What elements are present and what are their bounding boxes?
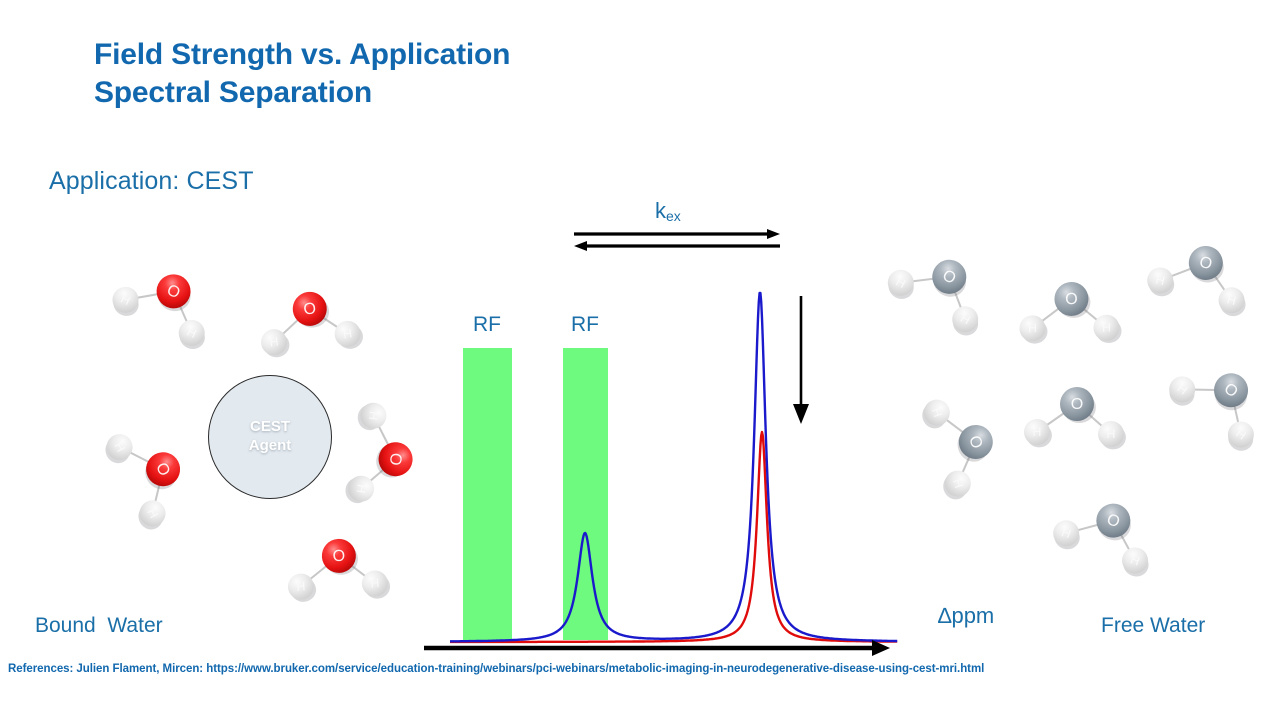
bound-water-molecule: HHO: [322, 389, 438, 522]
atom-label: O: [332, 547, 346, 566]
atom-label: O: [1071, 395, 1084, 413]
bound-water-label: Bound Water: [35, 614, 163, 638]
atom-label: H: [1107, 427, 1116, 441]
bound-water-molecule: HHO: [76, 399, 221, 552]
atom-label: H: [296, 579, 306, 594]
spectrum-curve-red: [450, 432, 897, 642]
exchange-rate-label: kex: [655, 198, 681, 224]
spectrum-curves: [450, 293, 897, 642]
free-water-molecule: HHO: [1008, 263, 1131, 367]
atom-label: H: [1033, 425, 1042, 439]
exchange-arrow-left-icon: [574, 240, 780, 252]
atom-label: H: [1028, 321, 1037, 335]
cest-agent-label: CEST Agent: [249, 418, 292, 456]
spectrum-curve-blue: [450, 293, 897, 641]
exchange-arrow-right-icon: [574, 228, 780, 240]
references-footer: References: Julien Flament, Mircen: http…: [8, 663, 984, 675]
free-water-label: Free Water: [1101, 614, 1205, 638]
bound-water-molecule: HHO: [244, 267, 377, 383]
atom-label: H: [342, 326, 353, 341]
cest-agent-circle: CEST Agent: [208, 375, 332, 499]
atom-label: H: [354, 483, 369, 494]
exchange-rate-subscript: ex: [666, 208, 681, 224]
atom-label: H: [269, 335, 280, 350]
free-water-molecule: HHO: [1015, 370, 1135, 470]
subtitle-application: Application: CEST: [49, 167, 254, 196]
atom-label: H: [366, 410, 381, 421]
free-water-molecule: HHO: [1130, 215, 1271, 341]
atom-label: H: [370, 576, 380, 591]
exchange-rate-symbol: k: [655, 198, 666, 223]
saturation-transfer-down-arrow-icon: [788, 296, 814, 424]
free-water-molecule: HHO: [1142, 326, 1281, 477]
page-title: Field Strength vs. Application Spectral …: [94, 36, 814, 113]
atom-label: O: [1065, 290, 1078, 308]
atom-label: O: [302, 299, 317, 319]
slide-canvas: Field Strength vs. Application Spectral …: [0, 0, 1281, 720]
atom-label: O: [386, 452, 406, 467]
cest-spectrum-plot: [420, 280, 920, 660]
ppm-axis-label: ∆ppm: [938, 603, 994, 629]
free-water-molecule: HHO: [1033, 467, 1180, 602]
bound-water-molecule: HHO: [275, 518, 402, 626]
atom-label: H: [1102, 320, 1111, 334]
bound-water-molecule: HHO: [89, 234, 240, 375]
